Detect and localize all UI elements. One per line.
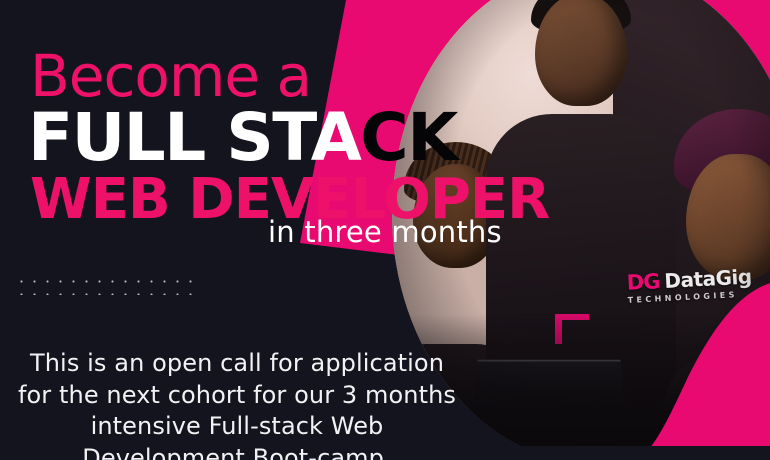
subheadline: in three months [268,218,502,247]
body-paragraph: This is an open call for application for… [12,348,462,460]
headline-line-2: FULL STACK [28,105,457,171]
headline-line-2-white: FULL STA [28,99,360,176]
headline-line-1: Become a [30,47,311,105]
dot-grid-decoration [15,275,195,295]
headline-line-2-black: CK [360,99,457,176]
poster-copy: Become a FULL STACK WEB DEVELOPER in thr… [0,0,770,460]
promo-poster: DGDataGig TECHNOLOGIES Become a FULL STA… [0,0,770,460]
